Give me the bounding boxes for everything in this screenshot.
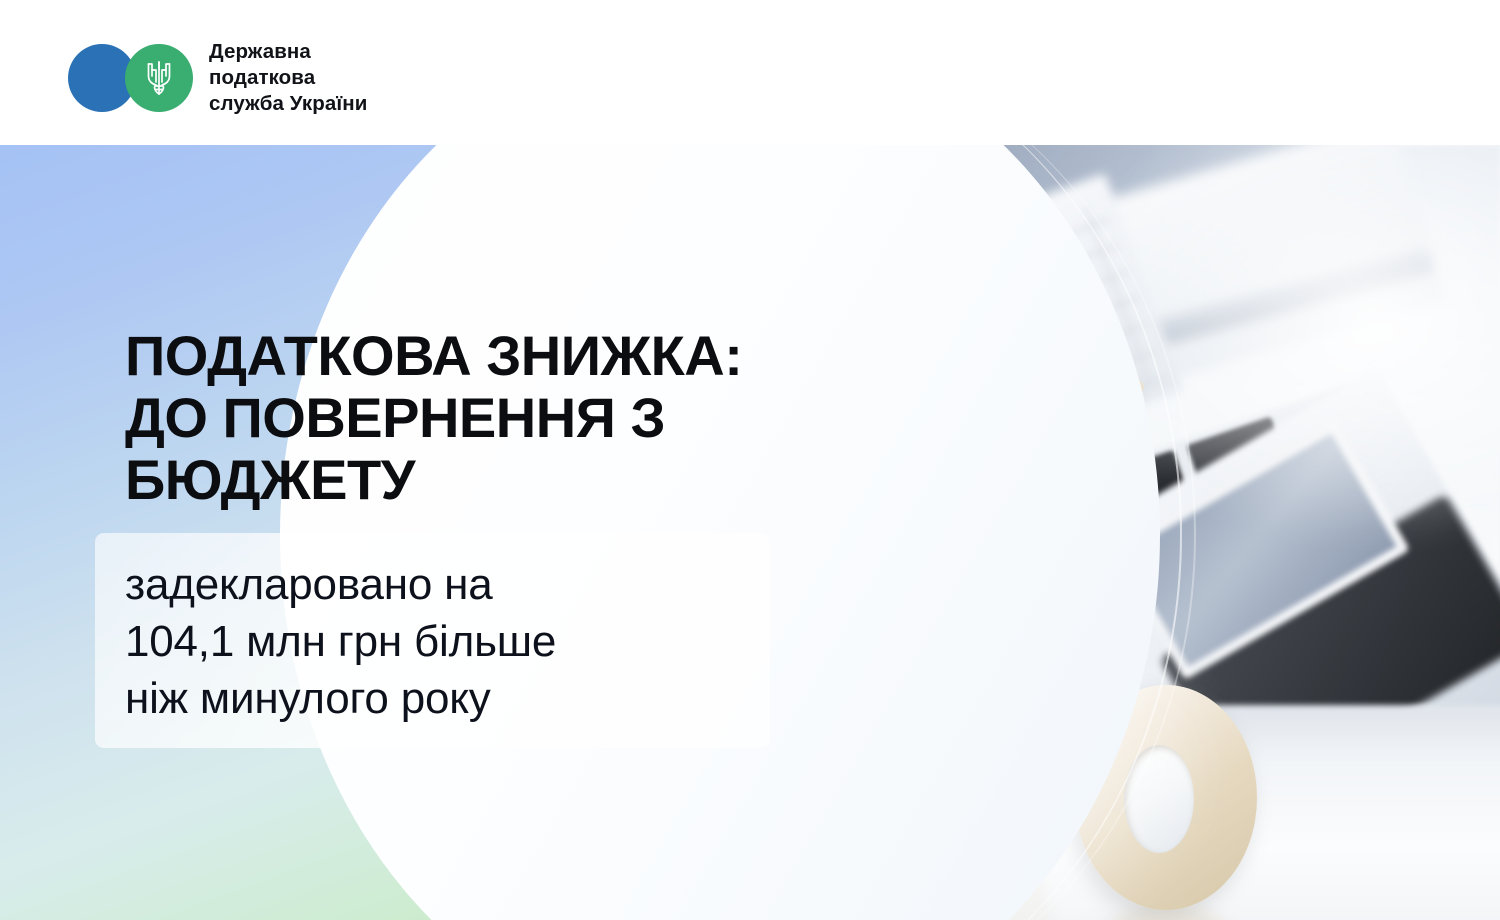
photo-highlight-top xyxy=(1060,145,1500,545)
office-photo xyxy=(760,145,1500,920)
logo[interactable]: Державна податкова служба України xyxy=(68,39,367,117)
ukrainian-trident-icon xyxy=(144,59,174,97)
poster-canvas: ПОДАТКОВА ЗНИЖКА: ДО ПОВЕРНЕННЯ З БЮДЖЕТ… xyxy=(0,0,1500,920)
header-band: Державна податкова служба України xyxy=(0,0,1500,145)
photo-layers xyxy=(760,145,1500,920)
green-circle-icon xyxy=(125,44,193,112)
page-title: ПОДАТКОВА ЗНИЖКА: ДО ПОВЕРНЕННЯ З БЮДЖЕТ… xyxy=(125,325,905,511)
organization-name: Державна податкова служба України xyxy=(209,39,367,117)
subtitle-text: задекларовано на 104,1 млн грн більше ні… xyxy=(125,556,775,728)
percent-sign-top-circle-hole xyxy=(923,395,997,503)
logo-marks xyxy=(68,44,193,112)
photo-highlight-bottom xyxy=(760,565,1220,920)
